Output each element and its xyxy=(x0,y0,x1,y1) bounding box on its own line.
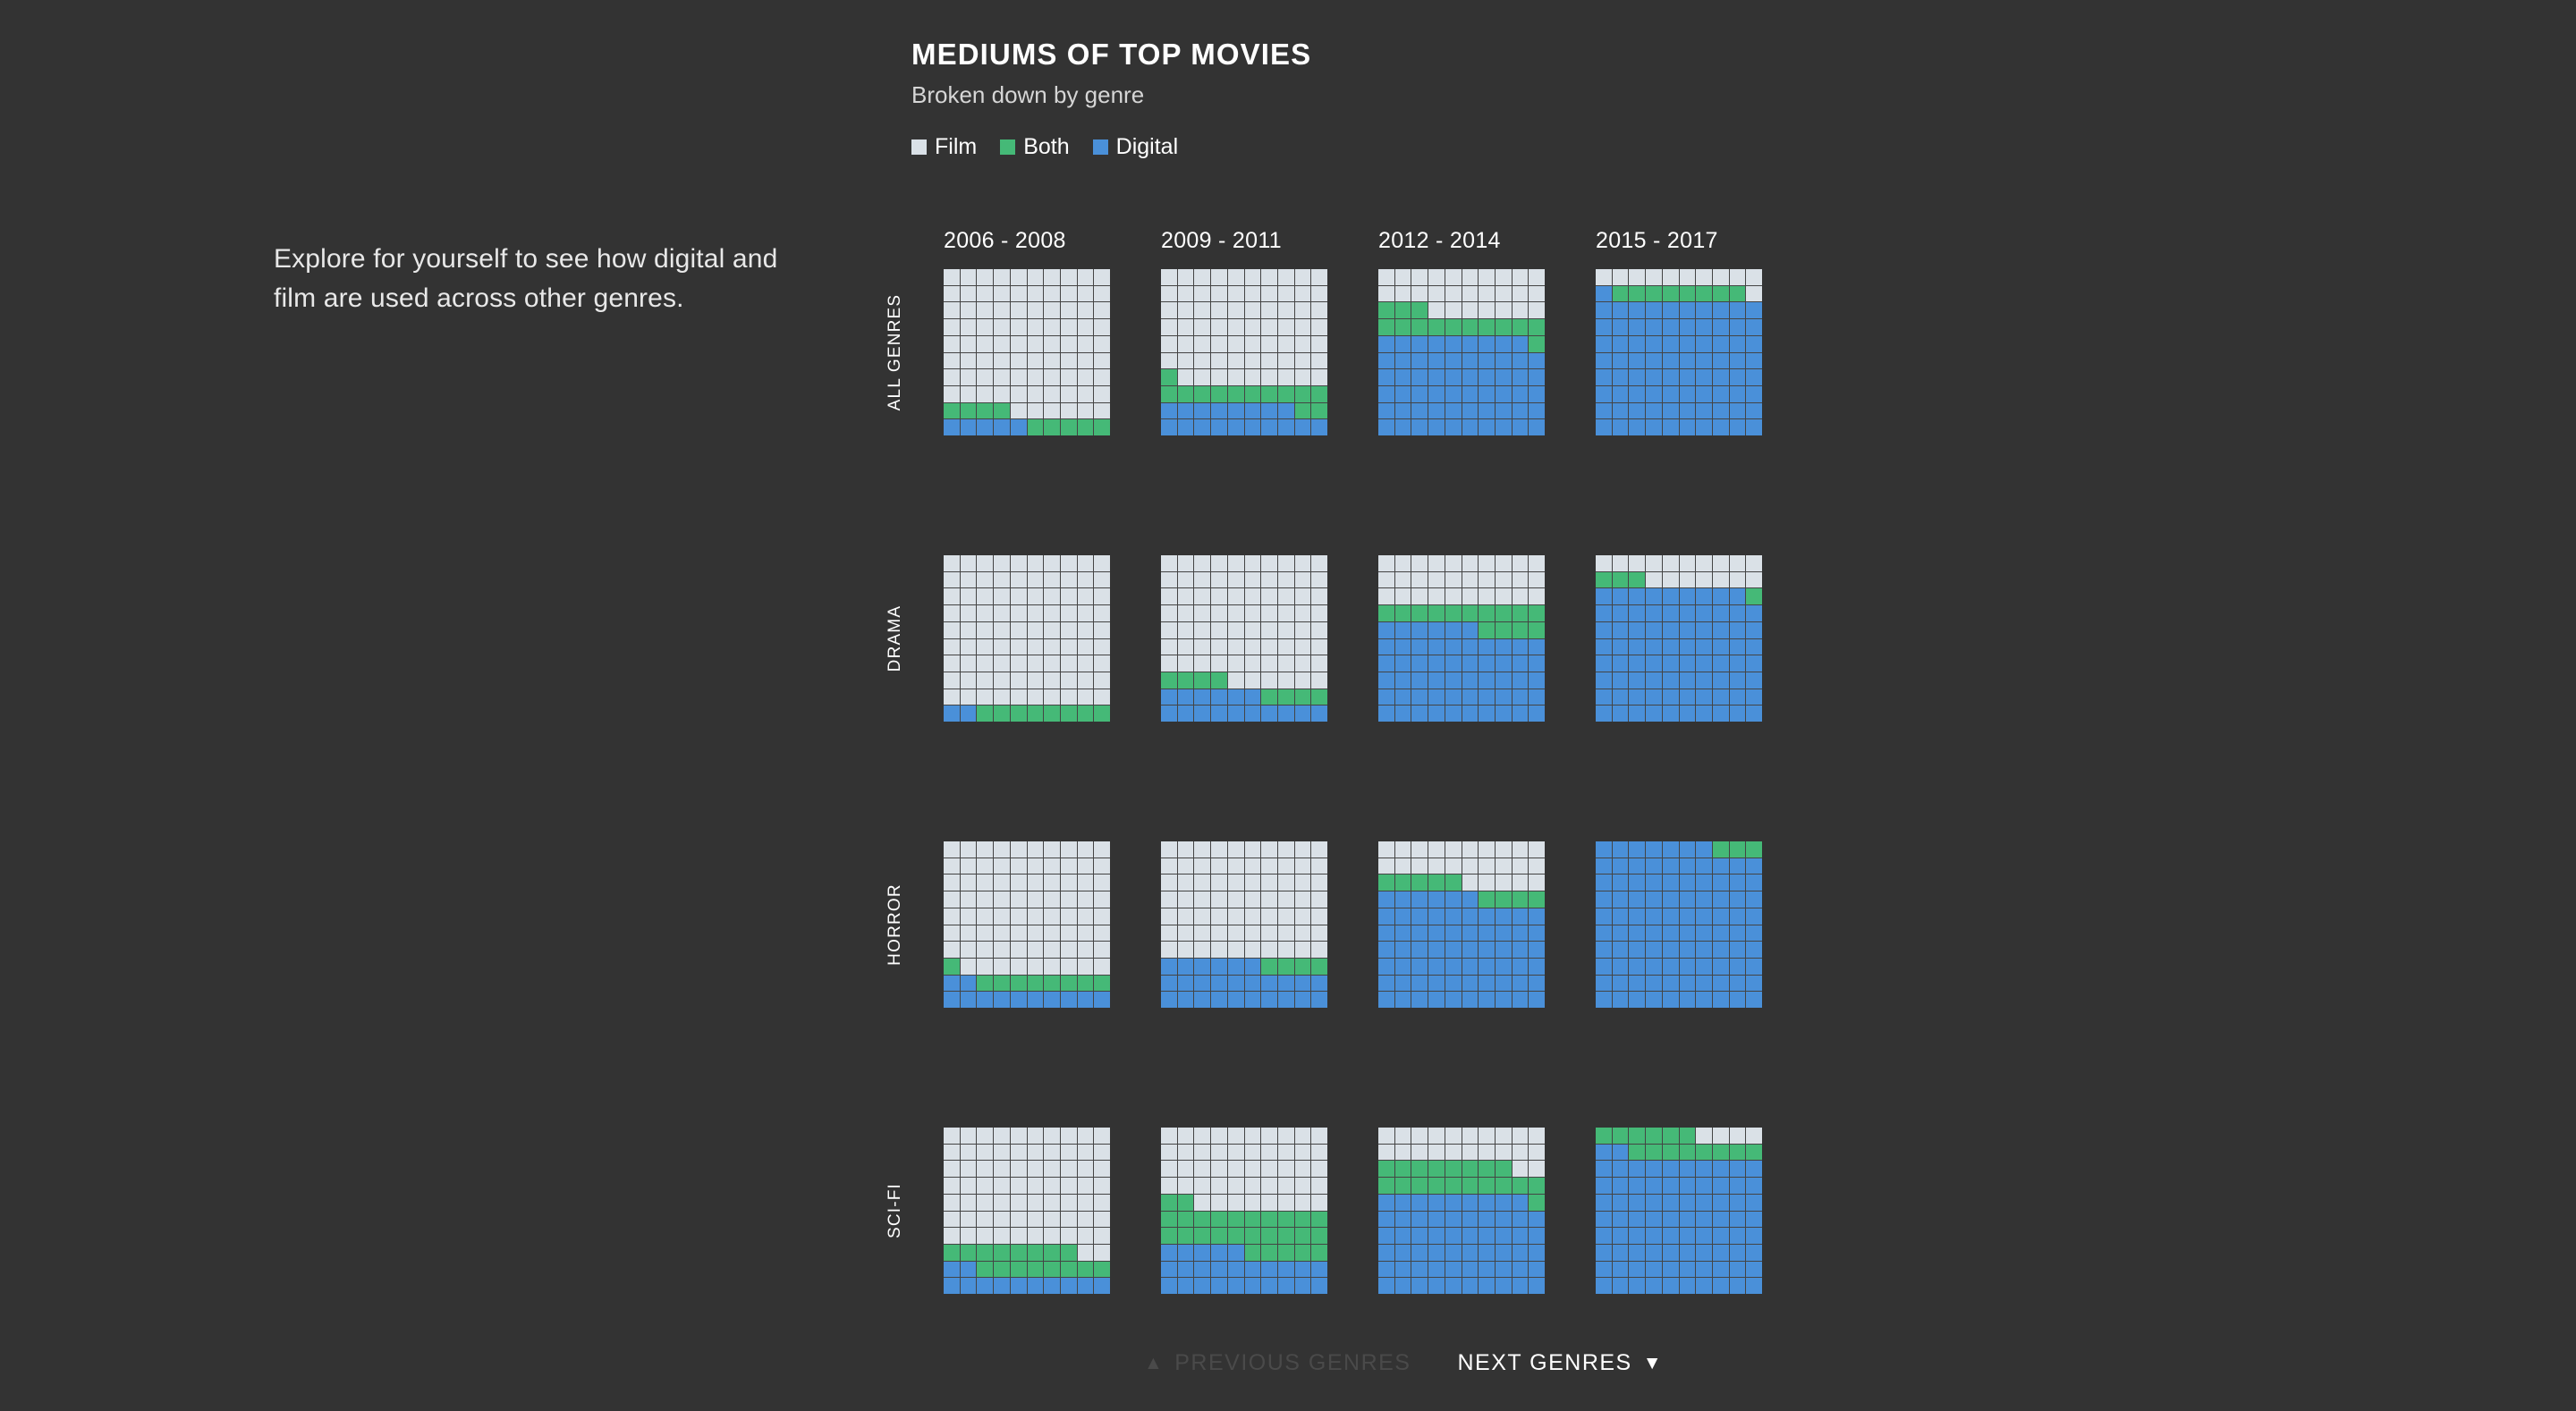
waffle-cell-digital xyxy=(1730,419,1746,435)
waffle-cell-film xyxy=(1194,605,1210,621)
waffle-cell-film xyxy=(1261,572,1277,588)
waffle-cell-digital xyxy=(1629,908,1645,925)
waffle-cell-digital xyxy=(1696,386,1712,402)
waffle-cell-film xyxy=(994,622,1010,638)
waffle-cell-digital xyxy=(1194,992,1210,1008)
waffle-cell-digital xyxy=(1178,705,1194,722)
waffle-cell-both xyxy=(1730,286,1746,302)
waffle-cell-digital xyxy=(1378,639,1394,655)
waffle-cell-film xyxy=(1061,403,1077,419)
waffle-cell-digital xyxy=(1696,588,1712,604)
waffle-cell-both xyxy=(1529,891,1545,908)
waffle-cell-digital xyxy=(1629,959,1645,975)
waffle-cell-digital xyxy=(944,705,960,722)
waffle-cell-film xyxy=(977,689,993,705)
waffle-cell-film xyxy=(1261,605,1277,621)
waffle-cell-digital xyxy=(1211,992,1227,1008)
waffle-cell-digital xyxy=(1228,1278,1244,1294)
waffle-grid[interactable] xyxy=(944,269,1110,435)
waffle-cell-film xyxy=(1028,655,1044,672)
waffle-cell-digital xyxy=(1596,286,1612,302)
waffle-cell-film xyxy=(1428,286,1445,302)
waffle-cell-film xyxy=(1044,286,1060,302)
waffle-cell-digital xyxy=(1445,419,1462,435)
waffle-cell-digital xyxy=(1462,386,1479,402)
waffle-cell-film xyxy=(1228,1161,1244,1177)
waffle-cell-film xyxy=(1161,336,1177,352)
waffle-cell-digital xyxy=(1178,959,1194,975)
waffle-cell-film xyxy=(977,672,993,689)
waffle-cell-digital xyxy=(1378,386,1394,402)
waffle-cell-film xyxy=(1445,858,1462,874)
waffle-cell-film xyxy=(1061,336,1077,352)
waffle-cell-both xyxy=(1295,959,1311,975)
waffle-cell-both xyxy=(1094,1262,1110,1278)
waffle-cell-film xyxy=(994,369,1010,385)
waffle-cell-digital xyxy=(1228,705,1244,722)
waffle-cell-film xyxy=(994,1161,1010,1177)
waffle-cell-digital xyxy=(1479,655,1495,672)
waffle-cell-digital xyxy=(1395,1212,1411,1228)
waffle-cell-film xyxy=(977,286,993,302)
waffle-cell-film xyxy=(1295,858,1311,874)
waffle-cell-digital xyxy=(1613,386,1629,402)
waffle-cell-film xyxy=(1194,1128,1210,1144)
waffle-cell-digital xyxy=(1730,622,1746,638)
waffle-cell-film xyxy=(1245,672,1261,689)
waffle-cell-digital xyxy=(1445,336,1462,352)
waffle-cell-film xyxy=(1028,386,1044,402)
waffle-cell-digital xyxy=(1730,925,1746,942)
waffle-cell-film xyxy=(1445,269,1462,285)
waffle-cell-film xyxy=(961,1161,977,1177)
waffle-cell-digital xyxy=(1663,992,1679,1008)
waffle-cell-film xyxy=(1061,353,1077,369)
waffle-cell-film xyxy=(1094,959,1110,975)
waffle-cell-digital xyxy=(1513,403,1529,419)
waffle-cell-both xyxy=(1496,622,1512,638)
waffle-cell-both xyxy=(1613,286,1629,302)
waffle-cell-both xyxy=(1746,1145,1762,1161)
waffle-cell-film xyxy=(1513,858,1529,874)
waffle-cell-both xyxy=(1646,1145,1662,1161)
waffle-cell-film xyxy=(1061,925,1077,942)
waffle-cell-film xyxy=(1295,841,1311,858)
legend-swatch-digital-icon xyxy=(1093,139,1108,155)
waffle-cell-both xyxy=(1094,705,1110,722)
waffle-cell-digital xyxy=(1613,925,1629,942)
waffle-grid[interactable] xyxy=(1378,841,1545,1008)
waffle-cell-digital xyxy=(1629,386,1645,402)
waffle-cell-film xyxy=(1245,572,1261,588)
waffle-cell-film xyxy=(961,1195,977,1211)
waffle-cell-film xyxy=(1311,286,1327,302)
waffle-cell-film xyxy=(1245,1195,1261,1211)
waffle-cell-digital xyxy=(1445,1228,1462,1244)
waffle-grid[interactable] xyxy=(944,841,1110,1008)
waffle-cell-both xyxy=(1513,622,1529,638)
waffle-cell-digital xyxy=(1295,976,1311,992)
waffle-cell-film xyxy=(1094,858,1110,874)
waffle-cell-film xyxy=(1428,588,1445,604)
waffle-cell-film xyxy=(1228,319,1244,335)
waffle-cell-film xyxy=(1178,588,1194,604)
waffle-cell-film xyxy=(1211,841,1227,858)
waffle-cell-digital xyxy=(1395,942,1411,958)
waffle-cell-both xyxy=(977,403,993,419)
waffle-cell-both xyxy=(1378,874,1394,891)
waffle-cell-digital xyxy=(1496,705,1512,722)
waffle-cell-digital xyxy=(1311,705,1327,722)
waffle-cell-digital xyxy=(1663,605,1679,621)
waffle-cell-film xyxy=(1094,572,1110,588)
waffle-cell-digital xyxy=(1428,992,1445,1008)
waffle-cell-digital xyxy=(1395,1278,1411,1294)
waffle-cell-film xyxy=(1094,353,1110,369)
waffle-cell-film xyxy=(1011,1161,1027,1177)
waffle-cell-digital xyxy=(1696,655,1712,672)
waffle-cell-both xyxy=(1261,959,1277,975)
waffle-cell-film xyxy=(1028,403,1044,419)
waffle-cell-film xyxy=(994,1128,1010,1144)
waffle-grid[interactable] xyxy=(944,555,1110,722)
waffle-cell-film xyxy=(1178,336,1194,352)
waffle-cell-digital xyxy=(1646,588,1662,604)
waffle-cell-film xyxy=(1378,572,1394,588)
waffle-cell-digital xyxy=(1378,1228,1394,1244)
waffle-cell-film xyxy=(944,369,960,385)
waffle-grid[interactable] xyxy=(1161,1128,1327,1294)
legend-item-both[interactable]: Both xyxy=(1000,136,1069,158)
waffle-cell-digital xyxy=(1680,386,1696,402)
waffle-cell-digital xyxy=(1378,403,1394,419)
waffle-cell-film xyxy=(977,605,993,621)
waffle-cell-digital xyxy=(1646,1161,1662,1177)
waffle-cell-digital xyxy=(1428,959,1445,975)
waffle-cell-both xyxy=(1228,386,1244,402)
waffle-cell-digital xyxy=(1629,639,1645,655)
waffle-cell-both xyxy=(1211,1212,1227,1228)
genre-label-cell: SCI-FI xyxy=(911,1128,944,1294)
waffle-cell-digital xyxy=(1462,908,1479,925)
waffle-cell-digital xyxy=(1746,336,1762,352)
waffle-cell-film xyxy=(1078,1145,1094,1161)
waffle-cell-digital xyxy=(1713,622,1729,638)
waffle-grid[interactable] xyxy=(1596,555,1762,722)
waffle-cell-both xyxy=(1311,959,1327,975)
waffle-cell-film xyxy=(1278,1195,1294,1211)
waffle-cell-digital xyxy=(944,419,960,435)
waffle-cell-digital xyxy=(1746,302,1762,318)
waffle-cell-digital xyxy=(1161,403,1177,419)
waffle-cell-film xyxy=(1496,874,1512,891)
waffle-cell-film xyxy=(1696,572,1712,588)
waffle-cell-digital xyxy=(1730,942,1746,958)
waffle-cell-both xyxy=(1613,1128,1629,1144)
waffle-cell-digital xyxy=(1479,1278,1495,1294)
waffle-cell-digital xyxy=(1161,1245,1177,1261)
waffle-cell-digital xyxy=(1211,976,1227,992)
waffle-cell-film xyxy=(1028,874,1044,891)
waffle-cell-film xyxy=(1094,403,1110,419)
waffle-cell-both xyxy=(1462,1161,1479,1177)
waffle-cell-digital xyxy=(1646,976,1662,992)
waffle-cell-film xyxy=(1061,605,1077,621)
waffle-cell-digital xyxy=(1513,655,1529,672)
waffle-cell-film xyxy=(1261,269,1277,285)
waffle-cell-digital xyxy=(1445,386,1462,402)
waffle-cell-both xyxy=(1261,689,1277,705)
waffle-cell-film xyxy=(1028,353,1044,369)
waffle-grid[interactable] xyxy=(1596,269,1762,435)
waffle-grid[interactable] xyxy=(1161,841,1327,1008)
waffle-cell-film xyxy=(1011,858,1027,874)
waffle-cell-digital xyxy=(1496,976,1512,992)
waffle-cell-digital xyxy=(961,976,977,992)
waffle-cell-digital xyxy=(1596,908,1612,925)
waffle-cell-digital xyxy=(1680,1195,1696,1211)
waffle-cell-both xyxy=(1496,1178,1512,1194)
waffle-cell-both xyxy=(1028,1245,1044,1261)
waffle-cell-film xyxy=(1061,655,1077,672)
waffle-cell-film xyxy=(977,1178,993,1194)
waffle-cell-digital xyxy=(1613,992,1629,1008)
waffle-cell-digital xyxy=(1462,992,1479,1008)
waffle-cell-film xyxy=(1061,942,1077,958)
waffle-cell-film xyxy=(1211,572,1227,588)
next-genres-button[interactable]: NEXT GENRES ▼ xyxy=(1457,1350,1663,1376)
waffle-cell-film xyxy=(994,639,1010,655)
waffle-cell-digital xyxy=(1696,672,1712,689)
waffle-grid[interactable] xyxy=(1596,841,1762,1008)
waffle-cell-both xyxy=(994,976,1010,992)
waffle-cell-digital xyxy=(1378,689,1394,705)
waffle-cell-film xyxy=(1078,386,1094,402)
waffle-cell-digital xyxy=(1680,841,1696,858)
waffle-cell-both xyxy=(1713,286,1729,302)
waffle-cell-film xyxy=(944,572,960,588)
waffle-cell-both xyxy=(1596,572,1612,588)
waffle-cell-both xyxy=(1261,1212,1277,1228)
waffle-cell-film xyxy=(1228,572,1244,588)
waffle-cell-digital xyxy=(1462,419,1479,435)
waffle-cell-digital xyxy=(1713,1278,1729,1294)
waffle-cell-film xyxy=(1061,672,1077,689)
waffle-cell-film xyxy=(1094,874,1110,891)
waffle-cell-film xyxy=(994,1212,1010,1228)
waffle-cell-digital xyxy=(1646,336,1662,352)
waffle-cell-digital xyxy=(1629,942,1645,958)
waffle-cell-digital xyxy=(1680,976,1696,992)
waffle-cell-film xyxy=(1445,1145,1462,1161)
waffle-cell-digital xyxy=(1646,1228,1662,1244)
waffle-cell-film xyxy=(1094,1212,1110,1228)
waffle-cell-digital xyxy=(1596,874,1612,891)
waffle-cell-digital xyxy=(1411,976,1428,992)
waffle-cell-film xyxy=(977,269,993,285)
waffle-cell-film xyxy=(961,336,977,352)
waffle-cell-film xyxy=(1428,269,1445,285)
waffle-cell-digital xyxy=(1596,858,1612,874)
waffle-cell-both xyxy=(1245,386,1261,402)
waffle-cell-film xyxy=(1646,269,1662,285)
waffle-grid[interactable] xyxy=(1161,269,1327,435)
genre-label-cell: HORROR xyxy=(911,841,944,1008)
waffle-cell-digital xyxy=(1730,1178,1746,1194)
waffle-cell-film xyxy=(1044,1128,1060,1144)
waffle-cell-film xyxy=(1078,858,1094,874)
waffle-cell-both xyxy=(1445,1178,1462,1194)
waffle-cell-film xyxy=(1311,1161,1327,1177)
waffle-cell-digital xyxy=(1211,419,1227,435)
waffle-cell-film xyxy=(1746,572,1762,588)
waffle-grid[interactable] xyxy=(1161,555,1327,722)
waffle-cell-film xyxy=(1161,1161,1177,1177)
waffle-cell-digital xyxy=(1730,403,1746,419)
waffle-cell-film xyxy=(1445,555,1462,571)
waffle-cell-digital xyxy=(1680,992,1696,1008)
waffle-cell-both xyxy=(1479,319,1495,335)
waffle-cell-film xyxy=(1261,874,1277,891)
next-genres-label: NEXT GENRES xyxy=(1457,1350,1631,1376)
waffle-cell-digital xyxy=(1496,1228,1512,1244)
waffle-grid[interactable] xyxy=(1596,1128,1762,1294)
waffle-cell-digital xyxy=(1613,588,1629,604)
waffle-cell-digital xyxy=(1161,976,1177,992)
waffle-cell-film xyxy=(1194,908,1210,925)
waffle-cell-digital xyxy=(1378,1212,1394,1228)
waffle-cell-digital xyxy=(1411,622,1428,638)
waffle-cell-digital xyxy=(1479,705,1495,722)
previous-genres-button[interactable]: ▲ PREVIOUS GENRES xyxy=(1144,1350,1411,1376)
waffle-cell-film xyxy=(1445,841,1462,858)
waffle-cell-both xyxy=(1094,976,1110,992)
waffle-cell-film xyxy=(1311,639,1327,655)
waffle-cell-film xyxy=(944,622,960,638)
waffle-grid[interactable] xyxy=(1378,269,1545,435)
waffle-cell-film xyxy=(1513,286,1529,302)
waffle-cell-digital xyxy=(1613,976,1629,992)
waffle-cell-film xyxy=(1228,588,1244,604)
waffle-cell-both xyxy=(1513,1178,1529,1194)
waffle-cell-film xyxy=(944,1178,960,1194)
waffle-cell-digital xyxy=(1696,1278,1712,1294)
waffle-grid[interactable] xyxy=(1378,1128,1545,1294)
waffle-cell-digital xyxy=(1462,369,1479,385)
waffle-cell-film xyxy=(977,959,993,975)
waffle-cell-digital xyxy=(1496,419,1512,435)
waffle-cell-digital xyxy=(1378,672,1394,689)
waffle-cell-digital xyxy=(1730,319,1746,335)
waffle-cell-film xyxy=(1178,605,1194,621)
waffle-cell-digital xyxy=(1746,1228,1762,1244)
waffle-cell-film xyxy=(1245,622,1261,638)
waffle-grid[interactable] xyxy=(1378,555,1545,722)
waffle-cell-film xyxy=(1295,1161,1311,1177)
waffle-cell-digital xyxy=(1629,1195,1645,1211)
waffle-cell-digital xyxy=(1596,942,1612,958)
waffle-cell-digital xyxy=(1713,976,1729,992)
waffle-cell-film xyxy=(1094,588,1110,604)
legend-item-film[interactable]: Film xyxy=(911,136,977,158)
waffle-cell-film xyxy=(1311,555,1327,571)
waffle-cell-digital xyxy=(1613,655,1629,672)
waffle-cell-film xyxy=(1261,369,1277,385)
waffle-cell-both xyxy=(1428,1161,1445,1177)
waffle-cell-digital xyxy=(944,1278,960,1294)
waffle-cell-film xyxy=(1061,1145,1077,1161)
waffle-cell-film xyxy=(977,353,993,369)
waffle-cell-film xyxy=(1663,572,1679,588)
waffle-cell-digital xyxy=(1479,1212,1495,1228)
waffle-cell-both xyxy=(1178,672,1194,689)
waffle-cell-both xyxy=(1479,1161,1495,1177)
waffle-cell-film xyxy=(1613,555,1629,571)
waffle-cell-digital xyxy=(1194,403,1210,419)
waffle-cell-digital xyxy=(961,705,977,722)
waffle-cell-digital xyxy=(1596,1195,1612,1211)
waffle-cell-film xyxy=(1513,302,1529,318)
waffle-cell-digital xyxy=(1411,672,1428,689)
waffle-cell-film xyxy=(1278,655,1294,672)
waffle-cell-both xyxy=(1044,976,1060,992)
legend-item-digital[interactable]: Digital xyxy=(1093,136,1178,158)
waffle-cell-film xyxy=(1178,1145,1194,1161)
waffle-cell-film xyxy=(1161,286,1177,302)
waffle-cell-digital xyxy=(1629,1262,1645,1278)
waffle-cell-both xyxy=(1428,874,1445,891)
waffle-cell-film xyxy=(1161,891,1177,908)
waffle-cell-film xyxy=(1245,369,1261,385)
waffle-cell-film xyxy=(1596,555,1612,571)
waffle-cell-digital xyxy=(1479,419,1495,435)
waffle-cell-film xyxy=(1194,369,1210,385)
waffle-cell-film xyxy=(1529,858,1545,874)
waffle-cell-film xyxy=(1011,353,1027,369)
waffle-cell-film xyxy=(1078,942,1094,958)
waffle-cell-film xyxy=(1479,302,1495,318)
waffle-cell-digital xyxy=(1613,419,1629,435)
waffle-cell-digital xyxy=(1730,639,1746,655)
waffle-cell-film xyxy=(1428,555,1445,571)
waffle-cell-both xyxy=(1529,1195,1545,1211)
waffle-cell-digital xyxy=(1680,605,1696,621)
waffle-cell-film xyxy=(1194,622,1210,638)
waffle-cell-digital xyxy=(1663,419,1679,435)
waffle-cell-film xyxy=(1395,269,1411,285)
waffle-cell-film xyxy=(961,655,977,672)
waffle-cell-both xyxy=(1680,1145,1696,1161)
waffle-cell-film xyxy=(994,874,1010,891)
waffle-cell-both xyxy=(1161,1228,1177,1244)
waffle-cell-both xyxy=(1228,1212,1244,1228)
waffle-cell-both xyxy=(1194,1228,1210,1244)
waffle-cell-digital xyxy=(1663,925,1679,942)
waffle-cell-film xyxy=(1211,908,1227,925)
waffle-cell-film xyxy=(1261,622,1277,638)
waffle-cell-film xyxy=(1178,286,1194,302)
waffle-cell-film xyxy=(977,622,993,638)
waffle-grid[interactable] xyxy=(944,1128,1110,1294)
waffle-cell-film xyxy=(1278,1161,1294,1177)
waffle-cell-digital xyxy=(1646,386,1662,402)
waffle-cell-film xyxy=(1011,925,1027,942)
waffle-cell-both xyxy=(1161,369,1177,385)
waffle-cell-digital xyxy=(1278,419,1294,435)
waffle-cell-digital xyxy=(1311,992,1327,1008)
waffle-cell-digital xyxy=(1629,874,1645,891)
waffle-cell-both xyxy=(1194,386,1210,402)
